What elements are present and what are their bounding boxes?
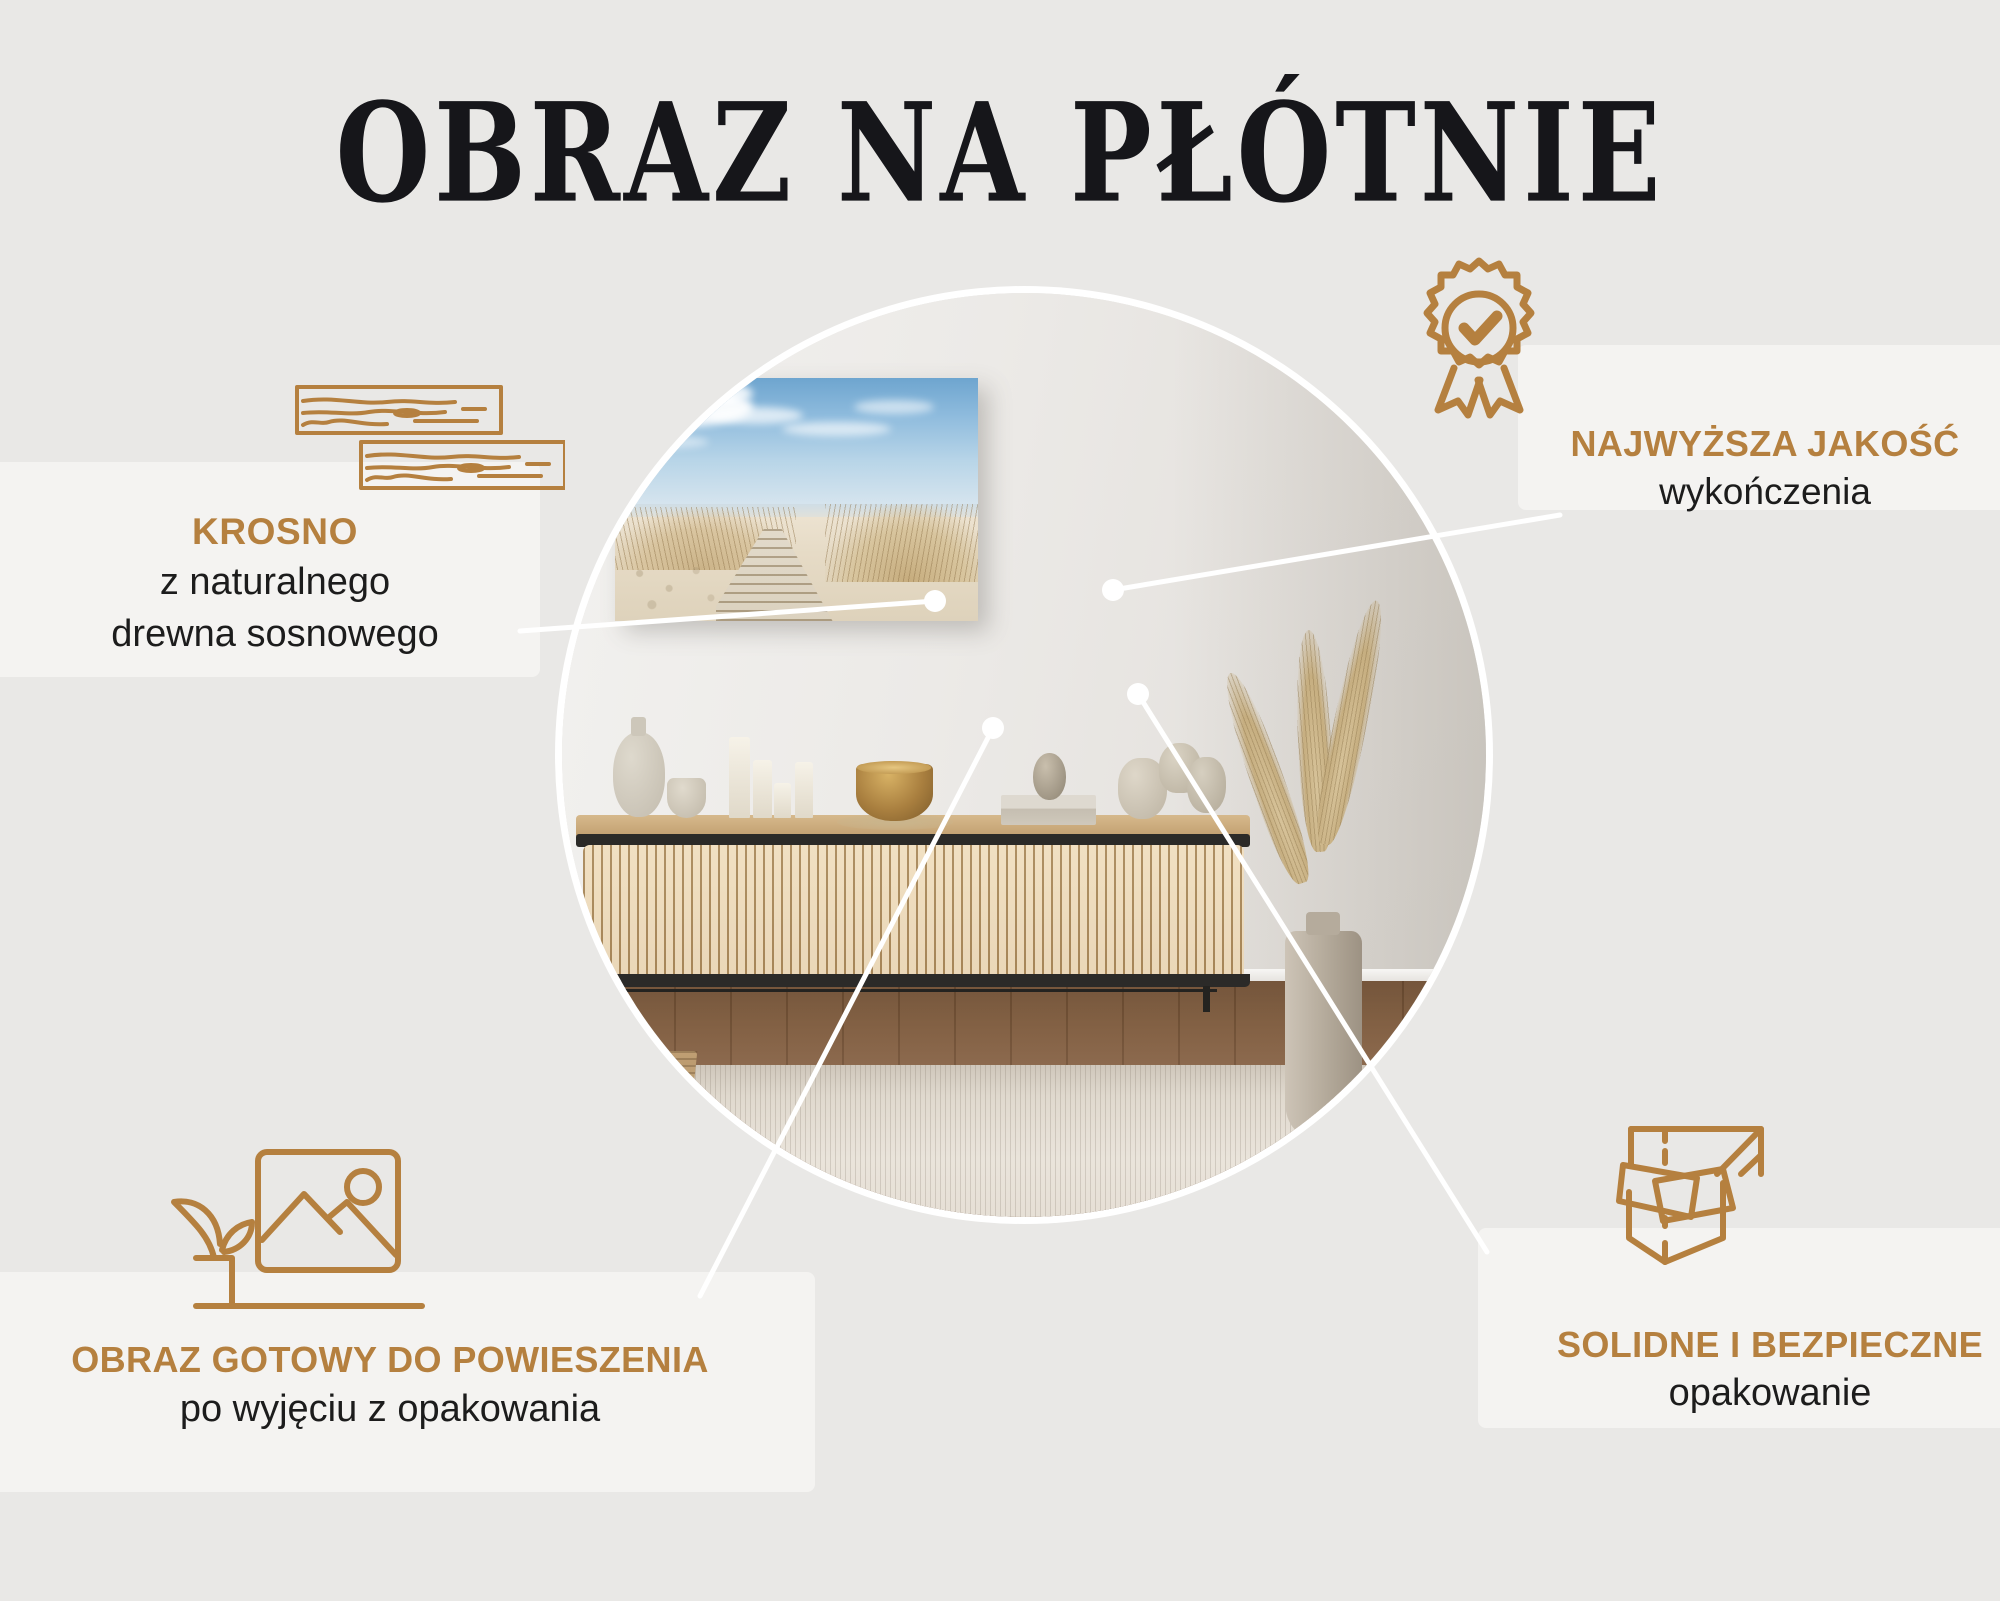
candle: [795, 762, 813, 817]
candle: [753, 760, 771, 818]
stone-floor-vase: [1285, 931, 1363, 1134]
canvas-artwork: [615, 378, 978, 621]
quality-badge-icon: [1414, 255, 1544, 420]
ceramic-bowl-small: [667, 778, 706, 818]
candle: [774, 783, 792, 818]
feature-jakosc: NAJWYŻSZA JAKOŚĆ wykończenia: [1530, 424, 2000, 514]
feature-opakowanie-title: SOLIDNE I BEZPIECZNE: [1490, 1325, 2000, 1365]
cardboard-box-icon: [1613, 1115, 1798, 1295]
feature-gotowy-subtitle-1: po wyjęciu z opakowania: [10, 1386, 770, 1432]
brass-bowl: [856, 764, 933, 820]
feature-opakowanie-subtitle-1: opakowanie: [1490, 1370, 2000, 1416]
decorative-stone: [1033, 753, 1065, 800]
artwork-dune-grass-right: [825, 504, 978, 582]
feature-jakosc-subtitle-1: wykończenia: [1530, 469, 2000, 514]
feature-opakowanie: SOLIDNE I BEZPIECZNE opakowanie: [1490, 1325, 2000, 1416]
sideboard-leg-bar: [610, 989, 1217, 992]
feature-krosno-title: KROSNO: [20, 512, 530, 553]
wood-planks-icon: [295, 385, 565, 490]
feature-krosno: KROSNO z naturalnego drewna sosnowego: [20, 512, 530, 657]
room-photo: [562, 293, 1486, 1217]
feature-krosno-subtitle-1: z naturalnego: [20, 559, 530, 605]
feature-krosno-subtitle-2: drewna sosnowego: [20, 611, 530, 657]
feature-gotowy-title: OBRAZ GOTOWY DO POWIESZENIA: [10, 1340, 770, 1380]
page-title: OBRAZ NA PŁÓTNIE: [30, 86, 1970, 223]
artwork-footprints: [615, 553, 738, 621]
woven-basket: [584, 1051, 696, 1153]
infographic-stage: OBRAZ NA PŁÓTNIE: [0, 0, 2000, 1601]
feature-jakosc-title: NAJWYŻSZA JAKOŚĆ: [1530, 424, 2000, 464]
feature-gotowy: OBRAZ GOTOWY DO POWIESZENIA po wyjęciu z…: [10, 1340, 770, 1432]
sideboard: [576, 815, 1251, 1004]
sideboard-fluted-front: [583, 845, 1244, 978]
sideboard-base: [576, 974, 1251, 987]
ceramic-pot-c: [1187, 757, 1227, 813]
room-photo-circle: [562, 293, 1486, 1217]
cloud: [644, 380, 753, 407]
framed-picture-plant-icon: [152, 1140, 452, 1345]
candle: [729, 737, 750, 818]
cloud: [782, 422, 891, 437]
ceramic-vase-large: [613, 732, 665, 817]
